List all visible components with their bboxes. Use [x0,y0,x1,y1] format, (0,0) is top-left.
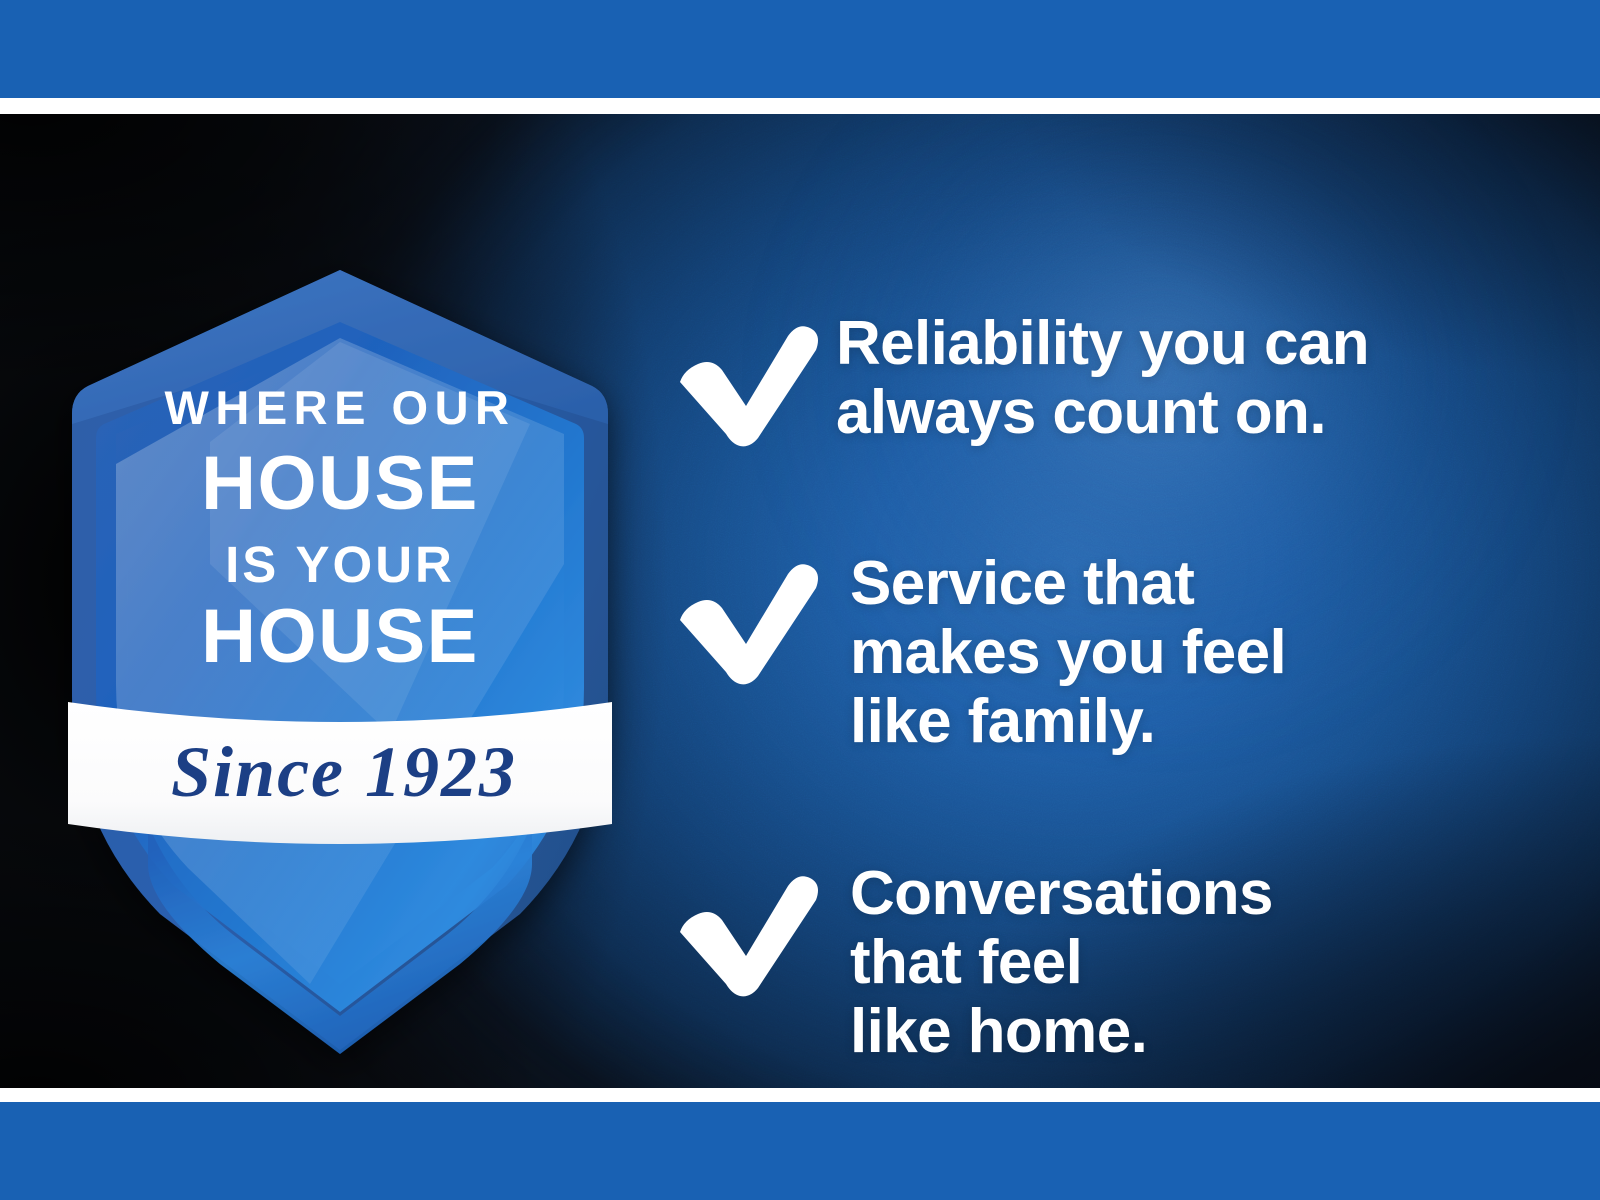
ribbon-since-text: Since 1923 [171,732,517,812]
bottom-brand-bar [0,1102,1600,1200]
list-item-reliability: Reliability you can always count on. [672,316,1369,450]
promo-slide: WHERE OUR HOUSE IS YOUR HOUSE Since 1923 [0,0,1600,1200]
content-stage: WHERE OUR HOUSE IS YOUR HOUSE Since 1923 [0,114,1600,1088]
shield-line-4: HOUSE [201,594,479,679]
value-prop-list: Reliability you can always count on. Ser… [672,282,1552,1088]
shield-line-3: IS YOUR [225,536,455,593]
company-shield-badge: WHERE OUR HOUSE IS YOUR HOUSE Since 1923 [60,264,620,1054]
shield-line-1: WHERE OUR [165,381,516,434]
list-item-text: Reliability you can always count on. [836,310,1369,448]
top-brand-bar [0,0,1600,98]
shield-line-2: HOUSE [201,441,479,526]
list-item-text: Conversations that feel like home. [850,860,1273,1066]
bottom-white-keyline [0,1088,1600,1102]
list-item-service: Service that makes you feel like family. [672,554,1286,756]
check-icon [672,320,822,450]
top-white-keyline [0,98,1600,114]
check-icon [672,558,822,688]
since-ribbon: Since 1923 [68,702,612,844]
check-icon [672,870,822,1000]
list-item-text: Service that makes you feel like family. [850,550,1286,756]
list-item-conversations: Conversations that feel like home. [672,866,1273,1066]
